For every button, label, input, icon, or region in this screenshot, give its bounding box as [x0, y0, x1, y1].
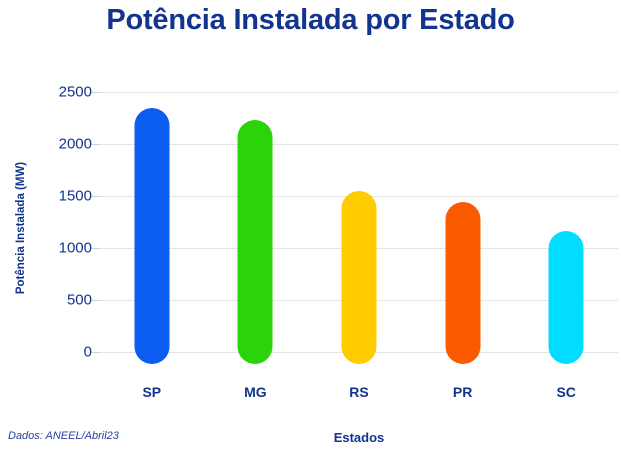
bar-slot-sp	[100, 92, 204, 364]
bar-sc[interactable]	[549, 231, 584, 364]
bar-slot-pr	[411, 92, 515, 364]
x-tick-label-pr: PR	[411, 384, 515, 400]
x-tick-label-mg: MG	[204, 384, 308, 400]
y-tick-label: 2500	[6, 84, 92, 101]
y-tick-mark	[92, 196, 100, 197]
y-tick-mark	[92, 352, 100, 353]
y-tick-mark	[92, 92, 100, 93]
bar-chart: Potência Instalada por Estado Potência I…	[0, 0, 621, 455]
bar-mg[interactable]	[238, 120, 273, 364]
y-tick-label: 1000	[6, 240, 92, 257]
y-tick-label: 2000	[6, 136, 92, 153]
source-note: Dados: ANEEL/Abril23	[8, 430, 119, 442]
y-tick-mark	[92, 300, 100, 301]
page-title: Potência Instalada por Estado	[0, 4, 621, 37]
y-tick-label: 500	[6, 292, 92, 309]
y-tick-label: 1500	[6, 188, 92, 205]
x-tick-label-rs: RS	[307, 384, 411, 400]
bar-slot-mg	[204, 92, 308, 364]
y-tick-mark	[92, 248, 100, 249]
bar-rs[interactable]	[341, 191, 376, 364]
y-axis-ticks: 05001000150020002500	[0, 92, 92, 352]
bar-slot-sc	[514, 92, 618, 364]
x-axis-ticks: SPMGRSPRSC	[100, 384, 618, 404]
bar-sp[interactable]	[134, 108, 169, 364]
bar-slot-rs	[307, 92, 411, 364]
x-axis-title: Estados	[100, 430, 618, 445]
x-tick-label-sp: SP	[100, 384, 204, 400]
bar-pr[interactable]	[445, 202, 480, 364]
x-tick-label-sc: SC	[514, 384, 618, 400]
bars-layer	[100, 92, 618, 364]
y-tick-label: 0	[6, 344, 92, 361]
y-tick-mark	[92, 144, 100, 145]
